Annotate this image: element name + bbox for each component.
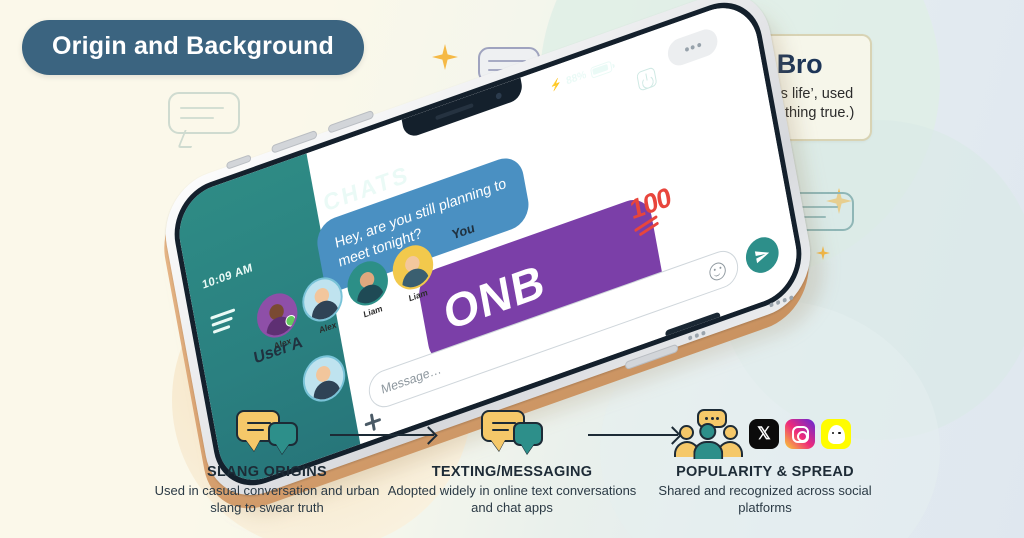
flow-step-title: TEXTING/MESSAGING bbox=[387, 464, 637, 480]
status-bar-time: 10:09 AM bbox=[201, 262, 253, 292]
flow-step-texting-messaging: TEXTING/MESSAGING Adopted widely in onli… bbox=[387, 406, 637, 517]
flow-step-icons: 𝕏 bbox=[640, 406, 890, 462]
menu-icon[interactable] bbox=[210, 308, 238, 334]
sparkle-icon bbox=[432, 44, 458, 70]
front-camera-icon bbox=[495, 92, 502, 100]
snapchat-icon[interactable] bbox=[821, 419, 851, 449]
chat-bubbles-icon bbox=[481, 410, 543, 458]
process-flow: SLANG ORIGINS Used in casual conversatio… bbox=[0, 400, 1024, 530]
page-title: Origin and Background bbox=[52, 34, 334, 59]
flow-step-description: Adopted widely in online text conversati… bbox=[387, 483, 637, 517]
group-people-icon bbox=[679, 409, 743, 459]
instagram-icon[interactable] bbox=[785, 419, 815, 449]
flow-step-description: Used in casual conversation and urban sl… bbox=[142, 483, 392, 517]
flow-step-description: Shared and recognized across social plat… bbox=[640, 483, 890, 517]
send-icon bbox=[753, 244, 771, 265]
decorative-chat-bubble-icon bbox=[168, 92, 240, 150]
flow-step-slang-origins: SLANG ORIGINS Used in casual conversatio… bbox=[142, 406, 392, 517]
x-twitter-icon[interactable]: 𝕏 bbox=[749, 419, 779, 449]
flow-step-title: POPULARITY & SPREAD bbox=[640, 464, 890, 480]
chat-bubbles-icon bbox=[236, 410, 298, 458]
emoji-icon[interactable] bbox=[708, 260, 727, 283]
page-title-badge: Origin and Background bbox=[22, 20, 364, 75]
flow-step-title: SLANG ORIGINS bbox=[142, 464, 392, 480]
flow-step-popularity-spread: 𝕏 POPULARITY & SPREAD Shared and recogni… bbox=[640, 406, 890, 517]
x-glyph: 𝕏 bbox=[757, 424, 771, 444]
infographic-canvas: Origin and Background ONB = On Bro (Mean… bbox=[0, 0, 1024, 538]
